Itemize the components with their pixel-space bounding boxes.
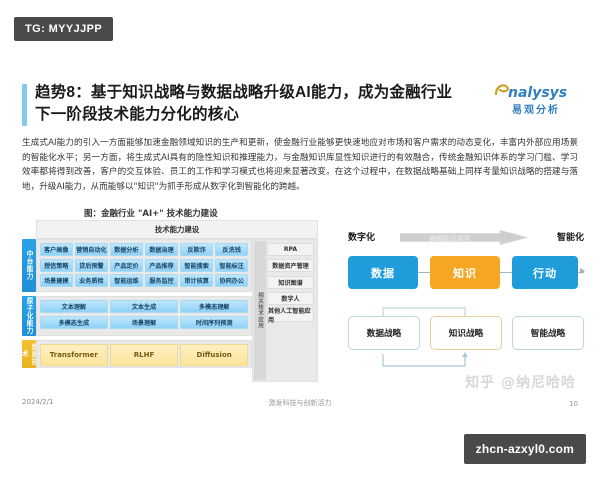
- capability-cell: 时间序列预测: [180, 316, 248, 329]
- application-cell: 数据资产管理: [267, 259, 314, 272]
- capability-cell: 协同办公: [215, 274, 248, 287]
- application-cell: 其他人工智能应用: [267, 309, 314, 322]
- row-cells-atomic: 文本理解 文本生成 多模态理解 多模态生成 场景理解 时间序列预测: [36, 296, 252, 336]
- application-cell: 数字人: [267, 292, 314, 305]
- capability-cell: 服务监控: [145, 274, 178, 287]
- application-cell: RPA: [267, 243, 314, 256]
- capability-cell: 多模态生成: [40, 316, 108, 329]
- row-label-midplatform: 中台能力: [22, 239, 36, 292]
- knowledge-gap-arrow-label: 跨越知识鸿沟: [400, 233, 500, 243]
- related-applications-label: 相关技术应用: [254, 241, 266, 380]
- capability-cell: 反洗钱: [215, 243, 248, 256]
- body-paragraph: 生成式AI能力的引入一方面能够加速金融领域知识的生产和更新，使金融行业能够更快速…: [22, 136, 578, 194]
- capability-cell: 审计核算: [180, 274, 213, 287]
- capability-cell: 数据分析: [110, 243, 143, 256]
- row-cells-midplatform: 客户画像 营销自动化 数据分析 数据治理 反欺诈 反洗钱 授信策略 贷后预警 产…: [36, 239, 252, 292]
- footer-tagline: 激发科技与创新活力: [0, 398, 600, 408]
- capability-cell: 智能搜索: [180, 259, 213, 272]
- strategy-row: 数据战略 知识战略 智能战略: [348, 316, 584, 356]
- stage-label-intelligence: 智能化: [557, 230, 584, 243]
- flow-node-knowledge: 知识: [430, 256, 500, 289]
- capability-cell: RLHF: [110, 344, 178, 366]
- capability-cell: Diffusion: [180, 344, 248, 366]
- capability-cell: 智能标注: [215, 259, 248, 272]
- capability-cell: 客户画像: [40, 243, 73, 256]
- row-label-foundation: 底层技术: [22, 340, 36, 368]
- capability-cell: 智能运维: [110, 274, 143, 287]
- chain-arrowhead-icon: [580, 268, 585, 274]
- figure-caption: 图：金融行业 "AI+" 技术能力建设: [84, 207, 218, 219]
- analysys-logo: nalysys 易观分析: [490, 78, 582, 116]
- capability-cell: 多模态理解: [180, 300, 248, 313]
- capability-cell: 产品定价: [110, 259, 143, 272]
- analysys-wordmark-icon: nalysys: [490, 78, 582, 104]
- related-applications-column: 相关技术应用 RPA 数据资产管理 知识图谱 数字人 其他人工智能应用: [252, 239, 318, 382]
- flow-node-action: 行动: [512, 256, 578, 289]
- diagram-band-header: 技术能力建设: [36, 220, 318, 239]
- zhihu-watermark: 知乎 @纳尼哈哈: [465, 372, 576, 392]
- svg-text:nalysys: nalysys: [508, 85, 567, 101]
- strategy-box-intelligent: 智能战略: [512, 316, 584, 350]
- capability-cell: 文本生成: [110, 300, 178, 313]
- capability-cell: 授信策略: [40, 259, 73, 272]
- strategy-box-data: 数据战略: [348, 316, 420, 350]
- page-title: 趋势8：基于知识战略与数据战略升级AI能力，成为金融行业下一阶段技术能力分化的核…: [35, 82, 465, 126]
- capability-cell: 场景理解: [110, 316, 178, 329]
- capability-cell: 贷后预警: [75, 259, 108, 272]
- flow-node-chain: 数据 知识 行动: [348, 256, 584, 290]
- url-watermark-badge: zhcn-azxyl0.com: [464, 434, 586, 464]
- capability-cell: 产品推荐: [145, 259, 178, 272]
- footer-page-number: 10: [569, 400, 578, 408]
- knowledge-flow-diagram: 数字化 跨越知识鸿沟 智能化 数据 知识 行动 数据战略 知识战略 智能战略: [348, 228, 584, 378]
- strategy-box-knowledge: 知识战略: [430, 316, 502, 350]
- knowledge-gap-arrow-icon: 跨越知识鸿沟: [400, 230, 528, 245]
- stage-label-digitalization: 数字化: [348, 230, 375, 243]
- slide-page: TG: MYYJJPP 趋势8：基于知识战略与数据战略升级AI能力，成为金融行业…: [0, 0, 600, 480]
- capability-diagram: 技术能力建设 中台能力 客户画像 营销自动化 数据分析 数据治理 反欺诈 反洗钱…: [22, 220, 318, 382]
- capability-cell: 文本理解: [40, 300, 108, 313]
- flow-node-data: 数据: [348, 256, 418, 289]
- capability-cell: Transformer: [40, 344, 108, 366]
- flow-stage-row: 数字化 跨越知识鸿沟 智能化: [348, 228, 584, 250]
- row-cells-foundation: Transformer RLHF Diffusion: [36, 340, 252, 368]
- capability-cell: 数据治理: [145, 243, 178, 256]
- capability-cell: 场景建模: [40, 274, 73, 287]
- capability-cell: 反欺诈: [180, 243, 213, 256]
- capability-cell: 营销自动化: [75, 243, 108, 256]
- application-cell: 知识图谱: [267, 276, 314, 289]
- tg-watermark-badge: TG: MYYJJPP: [14, 17, 113, 41]
- row-label-atomic: 原子化能力: [22, 296, 36, 336]
- capability-cell: 业务质检: [75, 274, 108, 287]
- title-accent-bar: [22, 84, 27, 126]
